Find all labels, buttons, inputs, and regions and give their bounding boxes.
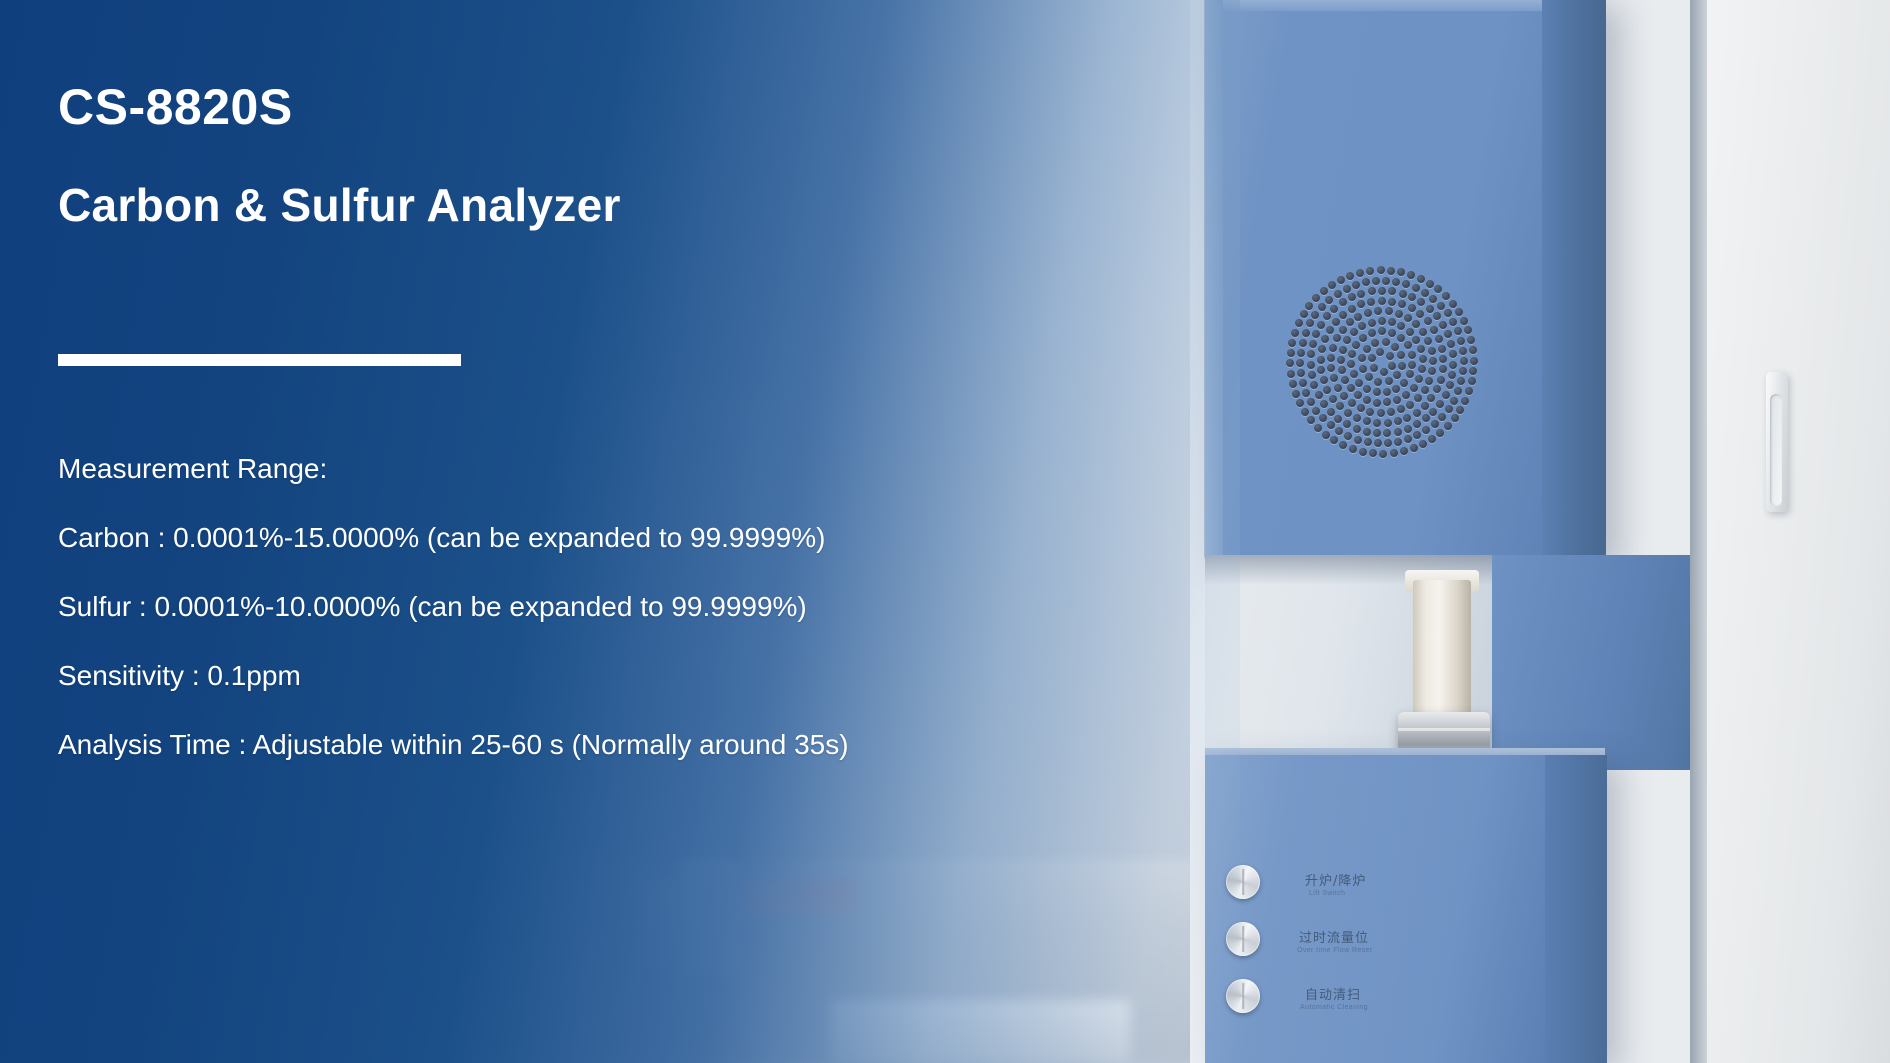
spec-line: Measurement Range: [58, 455, 1218, 483]
auto-clean-label-cn: 自动清扫 [1305, 984, 1361, 1003]
combustion-tube [1413, 580, 1471, 720]
furnace-base-right-face [1545, 755, 1607, 1063]
spec-line: Sulfur : 0.0001%-10.0000% (can be expand… [58, 593, 1218, 621]
banner-content: CS-8820S Carbon & Sulfur Analyzer Measur… [0, 0, 1240, 1063]
spec-line: Carbon : 0.0001%-15.0000% (can be expand… [58, 524, 1218, 552]
lab-cabinet [1707, 0, 1890, 1063]
spec-line: Sensitivity : 0.1ppm [58, 662, 1218, 690]
product-banner: 升炉/降炉 Lift Switch 过时流量位 Over time Flow R… [0, 0, 1890, 1063]
flow-reset-label-en: Over time Flow Reset [1297, 947, 1372, 954]
lift-switch-label-cn: 升炉/降炉 [1305, 870, 1366, 889]
auto-clean-label-en: Automatic Cleaning [1300, 1004, 1368, 1011]
cabinet-handle[interactable] [1766, 372, 1788, 512]
product-title: Carbon & Sulfur Analyzer [58, 178, 621, 232]
spec-line: Analysis Time : Adjustable within 25-60 … [58, 731, 1218, 759]
accent-rule [58, 354, 461, 366]
lift-switch-label-en: Lift Switch [1309, 890, 1345, 897]
flow-reset-label-cn: 过时流量位 [1299, 927, 1369, 946]
speaker-grille [1285, 265, 1480, 460]
tube-collar-highlight [1398, 728, 1490, 731]
cabinet-gap [1690, 0, 1708, 1063]
tower-underskirt [1492, 555, 1707, 770]
tower-right-face [1542, 0, 1606, 560]
product-model: CS-8820S [58, 78, 293, 136]
spec-list: Measurement Range:Carbon : 0.0001%-15.00… [58, 455, 1218, 759]
